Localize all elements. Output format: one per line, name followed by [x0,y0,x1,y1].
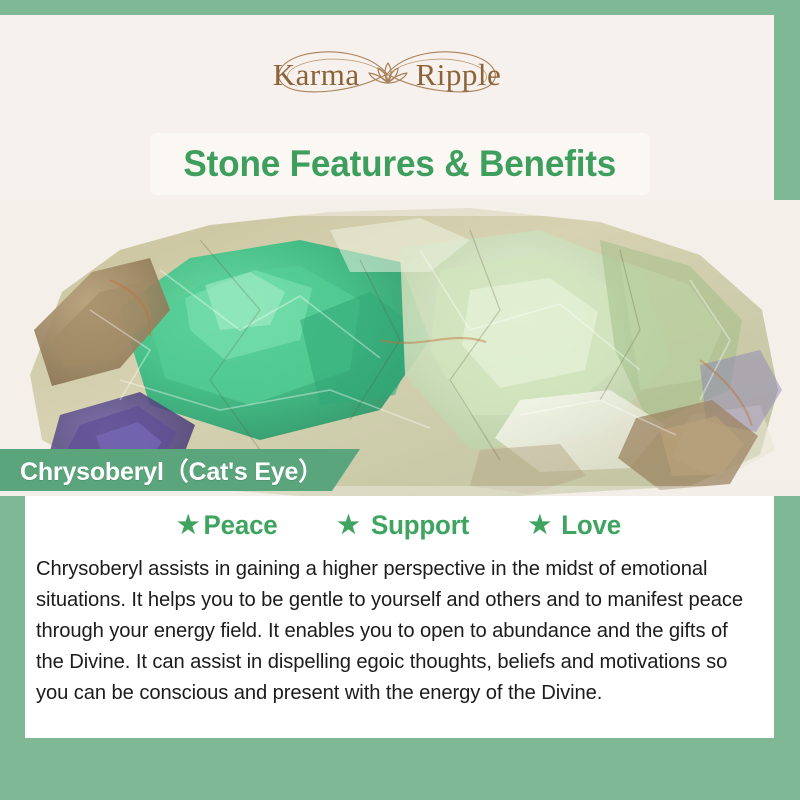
keyword-item-love: ★ Love [529,510,622,541]
frame-border-top [0,0,800,15]
keyword-label: Support [371,510,469,541]
star-icon: ★ [177,513,199,538]
title-band: Stone Features & Benefits [0,133,774,200]
star-icon: ★ [529,513,551,538]
infographic-card: Karma Ripple Stone Features & Benefits [0,0,800,800]
keyword-label: Peace [204,510,278,541]
lotus-flower-icon [366,57,410,91]
brand-header: Karma Ripple [0,15,774,133]
keyword-label: Love [561,510,621,541]
star-icon: ★ [337,513,359,538]
stone-name-banner: Chrysoberyl（Cat's Eye） [0,449,360,491]
keyword-item-peace: ★ Peace [177,510,279,541]
brand-name-left: Karma [273,59,360,90]
frame-border-bottom [0,738,800,800]
title-card: Stone Features & Benefits [150,133,650,195]
stone-name-label: Chrysoberyl（Cat's Eye） [0,452,323,488]
stone-description: Chrysoberyl assists in gaining a higher … [36,553,751,708]
page-title: Stone Features & Benefits [184,143,617,185]
brand-logo: Karma Ripple [237,42,537,106]
content-panel: ★ Peace ★ Support ★ Love Chrysoberyl ass… [25,496,774,738]
keyword-item-support: ★ Support [337,510,470,541]
keyword-list: ★ Peace ★ Support ★ Love [25,496,774,541]
brand-name-right: Ripple [416,59,502,90]
